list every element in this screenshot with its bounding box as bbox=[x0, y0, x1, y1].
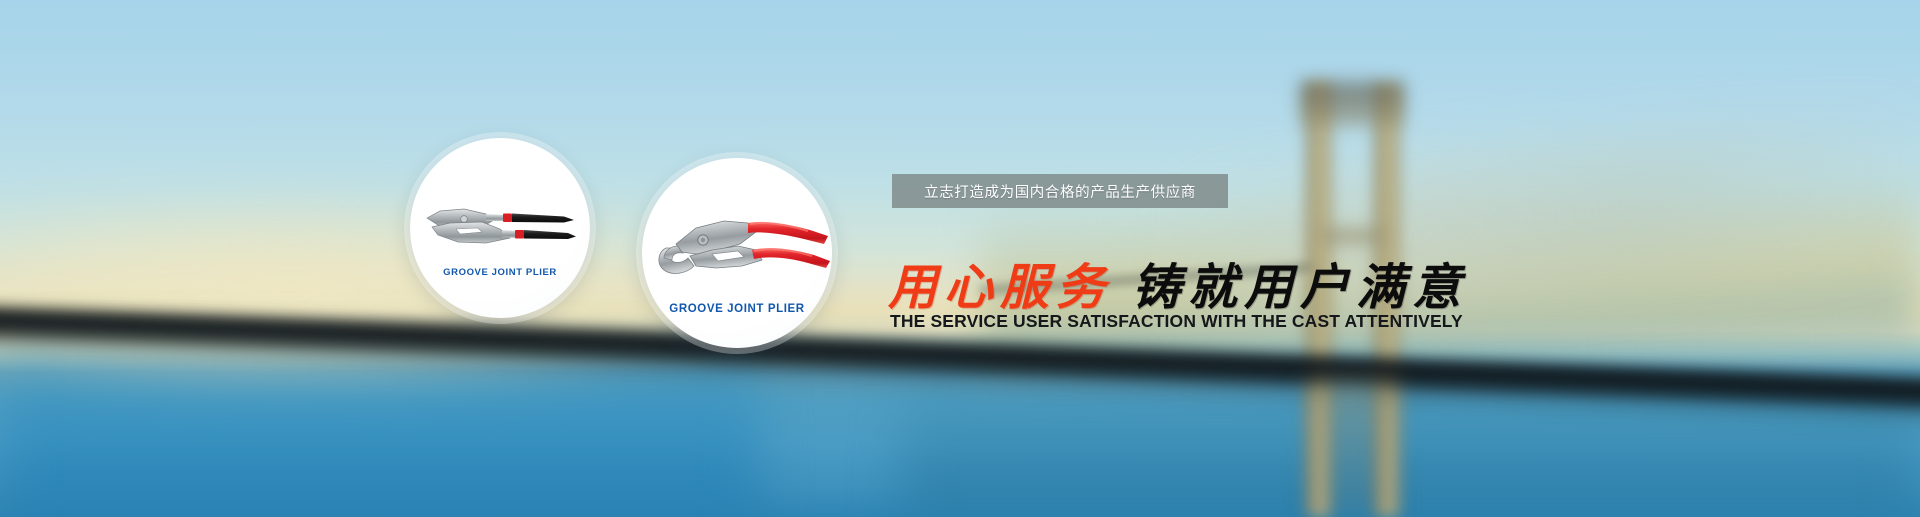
tagline-ribbon-text: 立志打造成为国内合格的产品生产供应商 bbox=[924, 181, 1196, 202]
tagline-ribbon: 立志打造成为国内合格的产品生产供应商 bbox=[892, 174, 1228, 208]
product-caption: GROOVE JOINT PLIER bbox=[410, 267, 590, 278]
bridge-tower-cap bbox=[1300, 82, 1404, 126]
product-caption: GROOVE JOINT PLIER bbox=[642, 303, 832, 315]
promo-banner: GROOVE JOINT PLIER bbox=[0, 0, 1920, 517]
product-circle-1[interactable]: GROOVE JOINT PLIER bbox=[410, 138, 590, 318]
product-circle-2[interactable]: GROOVE JOINT PLIER bbox=[642, 158, 832, 348]
headline: 用心服务 铸就用户满意 bbox=[888, 248, 1468, 319]
bridge-tower-brace bbox=[1322, 228, 1384, 244]
bridge-tower-reflection bbox=[1308, 380, 1398, 517]
headline-red-text: 用心服务 bbox=[888, 248, 1112, 319]
headline-black-text: 铸就用户满意 bbox=[1132, 248, 1468, 319]
headline-english-subtitle: THE SERVICE USER SATISFACTION WITH THE C… bbox=[890, 311, 1463, 332]
groove-joint-plier-red-handle-icon bbox=[652, 204, 830, 292]
groove-joint-plier-black-handle-icon bbox=[424, 198, 576, 254]
